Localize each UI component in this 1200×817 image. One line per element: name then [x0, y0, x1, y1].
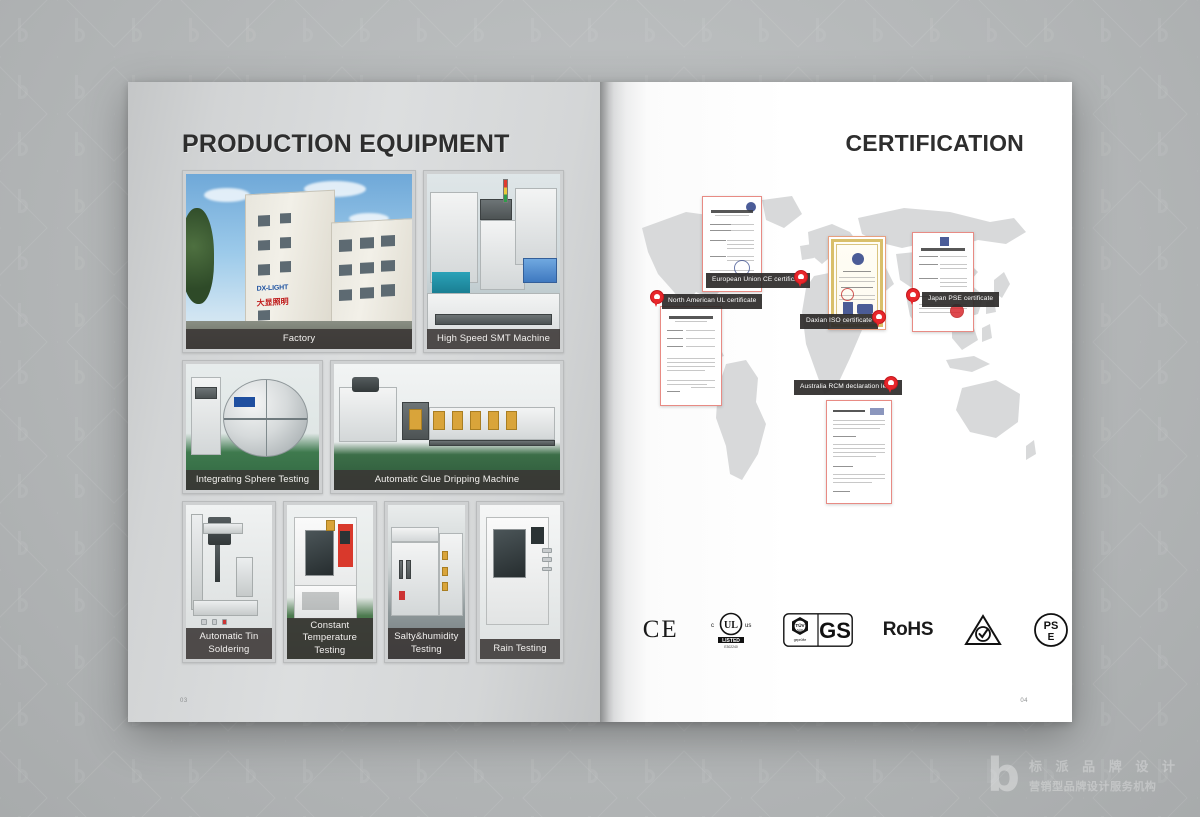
- certificate-rcm[interactable]: [826, 400, 892, 504]
- photo-caption-constant-temperature: Constant Temperature Testing: [287, 618, 373, 660]
- photo-caption-factory: Factory: [186, 329, 412, 350]
- map-label-japan-pse[interactable]: Japan PSE certificate: [922, 292, 999, 307]
- map-label-daxian-iso[interactable]: Daxian ISO certificate: [800, 314, 878, 329]
- svg-text:SÜD: SÜD: [797, 628, 804, 632]
- page-title-certification: CERTIFICATION: [846, 130, 1025, 157]
- svg-text:LISTED: LISTED: [722, 638, 740, 644]
- certificate-pse[interactable]: [912, 232, 974, 332]
- svg-text:UL: UL: [724, 620, 738, 631]
- photo-card-integrating-sphere[interactable]: Integrating Sphere Testing: [182, 360, 323, 494]
- photo-card-factory[interactable]: DX-LIGHT 大显照明: [182, 170, 416, 353]
- svg-text:E: E: [1048, 632, 1055, 643]
- photo-card-constant-temperature[interactable]: Constant Temperature Testing: [283, 501, 377, 663]
- map-pin-european-union-ce[interactable]: [794, 270, 808, 288]
- production-equipment-grid: DX-LIGHT 大显照明: [182, 170, 564, 670]
- photo-row-3: Automatic Tin Soldering: [182, 501, 564, 663]
- map-pin-australia-rcm[interactable]: [884, 376, 898, 394]
- photo-smt: High Speed SMT Machine: [427, 174, 560, 349]
- watermark-logo-b: b: [987, 756, 1020, 795]
- ce-mark-icon: CE: [643, 616, 679, 644]
- photo-integrating-sphere: Integrating Sphere Testing: [186, 364, 319, 490]
- svg-text:c: c: [711, 623, 714, 629]
- left-page: PRODUCTION EQUIPMENT: [128, 82, 600, 722]
- photo-caption-salty-humidity: Salty&humidity Testing: [388, 628, 465, 659]
- page-number-left: 03: [180, 698, 188, 704]
- map-pin-north-america-ul[interactable]: [650, 290, 664, 308]
- svg-text:E302240: E302240: [724, 645, 738, 649]
- photo-rain-testing: Rain Testing: [480, 505, 560, 659]
- watermark-line-1: 标 派 品 牌 设 计: [1029, 756, 1180, 775]
- svg-text:PS: PS: [1044, 620, 1059, 632]
- brochure-spread: PRODUCTION EQUIPMENT: [128, 82, 1072, 722]
- photo-row-1: DX-LIGHT 大显照明: [182, 170, 564, 353]
- photo-constant-temperature: Constant Temperature Testing: [287, 505, 373, 659]
- svg-text:geprüfte: geprüfte: [793, 638, 806, 642]
- ul-listed-mark-icon: c us UL LISTED E302240: [709, 610, 753, 650]
- factory-brand-latin: DX-LIGHT: [256, 284, 287, 293]
- svg-text:GS: GS: [819, 618, 851, 643]
- photo-card-smt[interactable]: High Speed SMT Machine: [423, 170, 564, 353]
- watermark-text: 标 派 品 牌 设 计 营销型品牌设计服务机构: [1029, 756, 1180, 794]
- page-title-production-equipment: PRODUCTION EQUIPMENT: [182, 130, 510, 159]
- certification-world-map: North American UL certificate European U…: [634, 188, 1038, 588]
- photo-card-salty-humidity[interactable]: Salty&humidity Testing: [384, 501, 469, 663]
- photo-card-tin-soldering[interactable]: Automatic Tin Soldering: [182, 501, 276, 663]
- photo-caption-integrating-sphere: Integrating Sphere Testing: [186, 470, 319, 491]
- svg-text:us: us: [745, 623, 751, 629]
- rcm-mark-icon: [963, 613, 1003, 647]
- photo-caption-tin-soldering: Automatic Tin Soldering: [186, 628, 272, 659]
- photo-glue-dripping: Automatic Glue Dripping Machine: [334, 364, 560, 490]
- photo-factory: DX-LIGHT 大显照明: [186, 174, 412, 349]
- watermark-line-2: 营销型品牌设计服务机构: [1029, 778, 1180, 794]
- tuv-gs-mark-icon: TÜV SÜD geprüfte GS: [783, 613, 853, 647]
- corner-watermark: b 标 派 品 牌 设 计 营销型品牌设计服务机构: [987, 756, 1180, 795]
- photo-tin-soldering: Automatic Tin Soldering: [186, 505, 272, 659]
- photo-caption-smt: High Speed SMT Machine: [427, 329, 560, 350]
- map-label-north-america-ul[interactable]: North American UL certificate: [662, 294, 762, 309]
- photo-salty-humidity: Salty&humidity Testing: [388, 505, 465, 659]
- rohs-mark-icon: RoHS: [883, 619, 934, 641]
- pse-mark-icon: PS E: [1033, 612, 1069, 648]
- photo-card-rain-testing[interactable]: Rain Testing: [476, 501, 564, 663]
- page-number-right: 04: [1020, 698, 1028, 704]
- map-pin-daxian-iso[interactable]: [872, 310, 886, 328]
- photo-caption-glue-dripping: Automatic Glue Dripping Machine: [334, 470, 560, 491]
- certification-logo-row: CE c us UL LISTED E302240: [600, 610, 1072, 650]
- map-pin-japan-pse[interactable]: [906, 288, 920, 306]
- photo-row-2: Integrating Sphere Testing: [182, 360, 564, 494]
- certificate-ul[interactable]: [660, 306, 722, 406]
- photo-card-glue-dripping[interactable]: Automatic Glue Dripping Machine: [330, 360, 564, 494]
- photo-caption-rain-testing: Rain Testing: [480, 639, 560, 660]
- right-page: CERTIFICATION: [600, 82, 1072, 722]
- factory-brand-chinese: 大显照明: [256, 296, 288, 309]
